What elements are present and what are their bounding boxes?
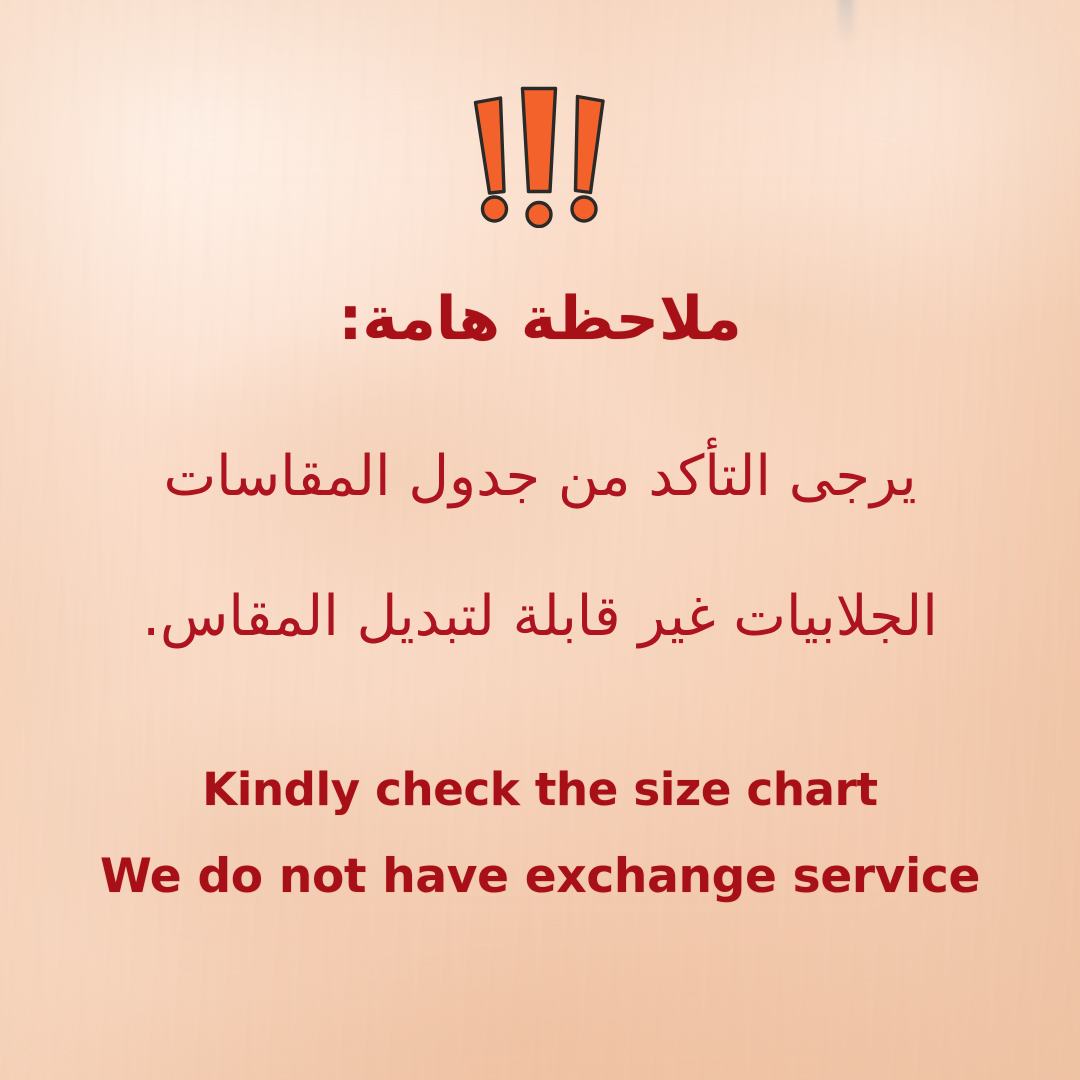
note-arabic-line-2: الجلابيات غير قابلة لتبديل المقاس. bbox=[0, 583, 1080, 650]
page-title-arabic: ملاحظة هامة: bbox=[0, 286, 1080, 353]
exclamation-bar-right bbox=[576, 97, 604, 193]
note-arabic-line-1: يرجى التأكد من جدول المقاسات bbox=[0, 443, 1080, 510]
exclamation-bar-center bbox=[523, 89, 556, 192]
note-english-line-1: Kindly check the size chart bbox=[0, 763, 1080, 817]
exclamation-bar-left bbox=[476, 98, 505, 193]
poster-content: ملاحظة هامة: يرجى التأكد من جدول المقاسا… bbox=[0, 0, 1080, 1080]
exclamation-dot-left bbox=[483, 197, 507, 221]
triple-exclamation-icon bbox=[460, 78, 620, 228]
exclamation-dot-right bbox=[572, 197, 596, 221]
note-english-line-2: We do not have exchange service bbox=[0, 849, 1080, 905]
important-note-poster: ملاحظة هامة: يرجى التأكد من جدول المقاسا… bbox=[0, 0, 1080, 1080]
triple-exclamation-icon-container bbox=[0, 78, 1080, 228]
exclamation-dot-center bbox=[527, 203, 551, 227]
